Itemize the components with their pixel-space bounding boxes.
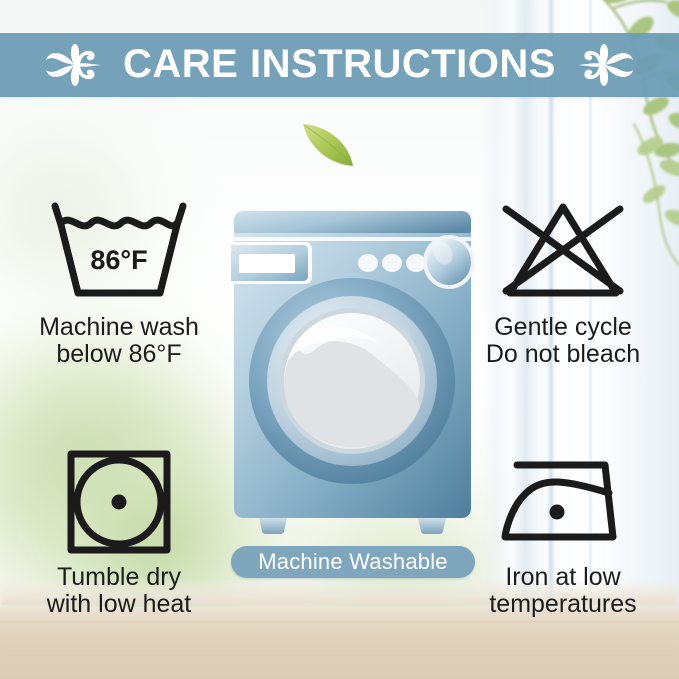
- wash-temperature-value: 86°F: [90, 245, 147, 275]
- washing-machine-illustration: [231, 209, 474, 535]
- drawer-handle: [239, 254, 295, 273]
- care-symbol-tumble-dry: Tumble dry with low heat: [4, 446, 234, 618]
- fleur-de-lis-icon-left: [43, 42, 105, 88]
- iron-icon-wrap: [448, 446, 678, 558]
- care-symbol-machine-wash: 86°F Machine wash below 86°F: [4, 196, 234, 368]
- machine-foot-left: [259, 518, 287, 534]
- iron-heat-dot: [550, 505, 565, 520]
- care-symbol-iron: Iron at low temperatures: [448, 446, 678, 618]
- page-title: CARE INSTRUCTIONS: [123, 44, 556, 84]
- care-symbol-caption: Tumble dry with low heat: [4, 564, 234, 618]
- iron-icon: [493, 449, 633, 555]
- wash-tub-icon-wrap: 86°F: [4, 196, 234, 308]
- machine-washable-badge: Machine Washable: [231, 546, 475, 578]
- machine-foot-right: [418, 518, 446, 534]
- care-symbol-do-not-bleach: Gentle cycle Do not bleach: [448, 196, 678, 368]
- badge-label: Machine Washable: [258, 551, 447, 573]
- no-bleach-icon-wrap: [448, 196, 678, 308]
- care-symbol-caption: Machine wash below 86°F: [4, 314, 234, 368]
- fleur-de-lis-icon-right: [574, 42, 636, 88]
- tumble-dry-heat-dot: [112, 495, 127, 510]
- wash-tub-icon: 86°F: [45, 197, 193, 307]
- care-symbol-caption: Iron at low temperatures: [448, 564, 678, 618]
- care-instructions-graphic: CARE INSTRUCTIONS: [0, 0, 679, 679]
- tumble-dry-icon-wrap: [4, 446, 234, 558]
- tumble-dry-square-icon: [64, 447, 174, 557]
- header-banner: CARE INSTRUCTIONS: [0, 33, 679, 97]
- floating-leaf-icon: [299, 122, 355, 168]
- indicator-light-2: [382, 254, 402, 272]
- care-symbol-caption: Gentle cycle Do not bleach: [448, 314, 678, 368]
- triangle-crossed-no-bleach-icon: [488, 197, 638, 307]
- indicator-light-3: [406, 254, 426, 272]
- indicator-light-1: [358, 254, 378, 272]
